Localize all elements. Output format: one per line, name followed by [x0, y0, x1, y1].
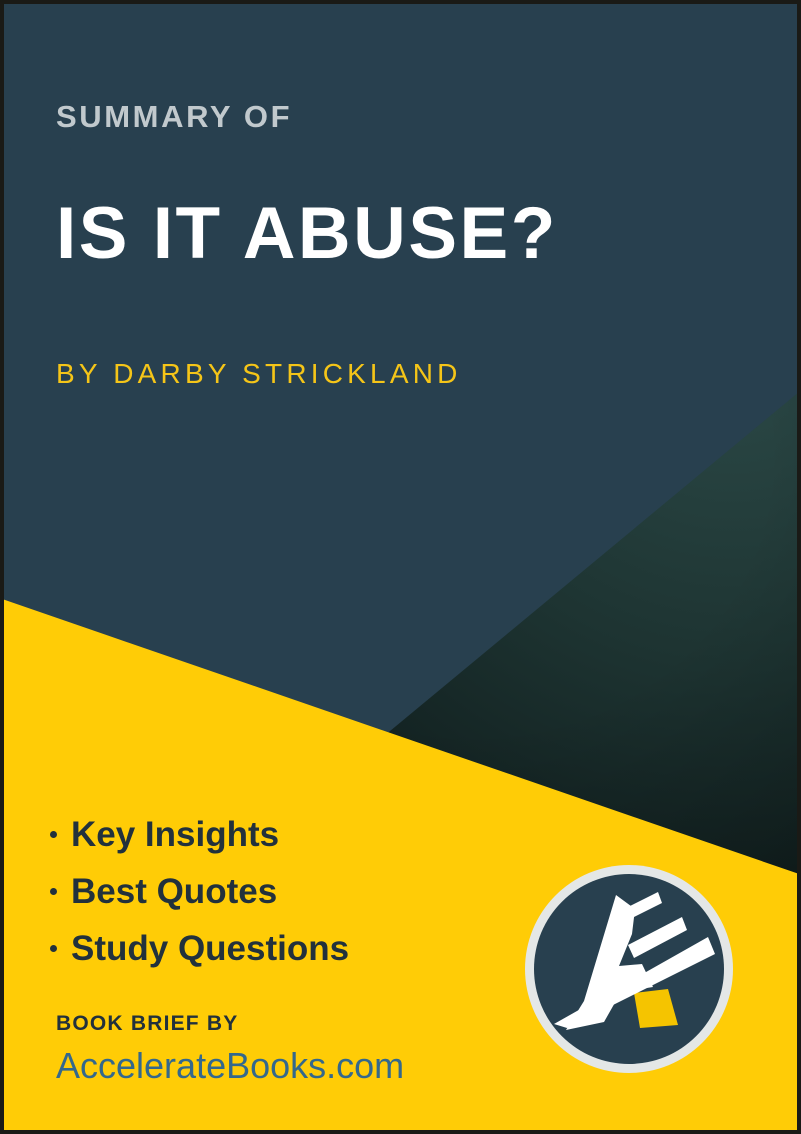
book-title: IS IT ABUSE? [56, 196, 696, 273]
logo-icon [522, 862, 736, 1076]
author-byline: BY DARBY STRICKLAND [56, 359, 696, 390]
book-brief-by-label: BOOK BRIEF BY [56, 1012, 404, 1036]
summary-eyebrow: SUMMARY OF [56, 100, 696, 134]
list-item: Best Quotes [50, 863, 349, 920]
list-item-label: Study Questions [71, 929, 349, 968]
bullet-dot-icon [50, 831, 57, 838]
accelerate-books-logo-badge [522, 862, 736, 1076]
publisher-website[interactable]: AccelerateBooks.com [56, 1045, 404, 1087]
list-item: Study Questions [50, 920, 349, 977]
list-item-label: Key Insights [71, 815, 279, 854]
book-cover: SUMMARY OF IS IT ABUSE? BY DARBY STRICKL… [0, 0, 801, 1134]
feature-list: Key Insights Best Quotes Study Questions [50, 806, 349, 977]
list-item-label: Best Quotes [71, 872, 277, 911]
list-item: Key Insights [50, 806, 349, 863]
title-block: SUMMARY OF IS IT ABUSE? BY DARBY STRICKL… [56, 100, 696, 390]
bullet-dot-icon [50, 945, 57, 952]
footer-attribution: BOOK BRIEF BY AccelerateBooks.com [56, 1012, 404, 1087]
bullet-dot-icon [50, 888, 57, 895]
